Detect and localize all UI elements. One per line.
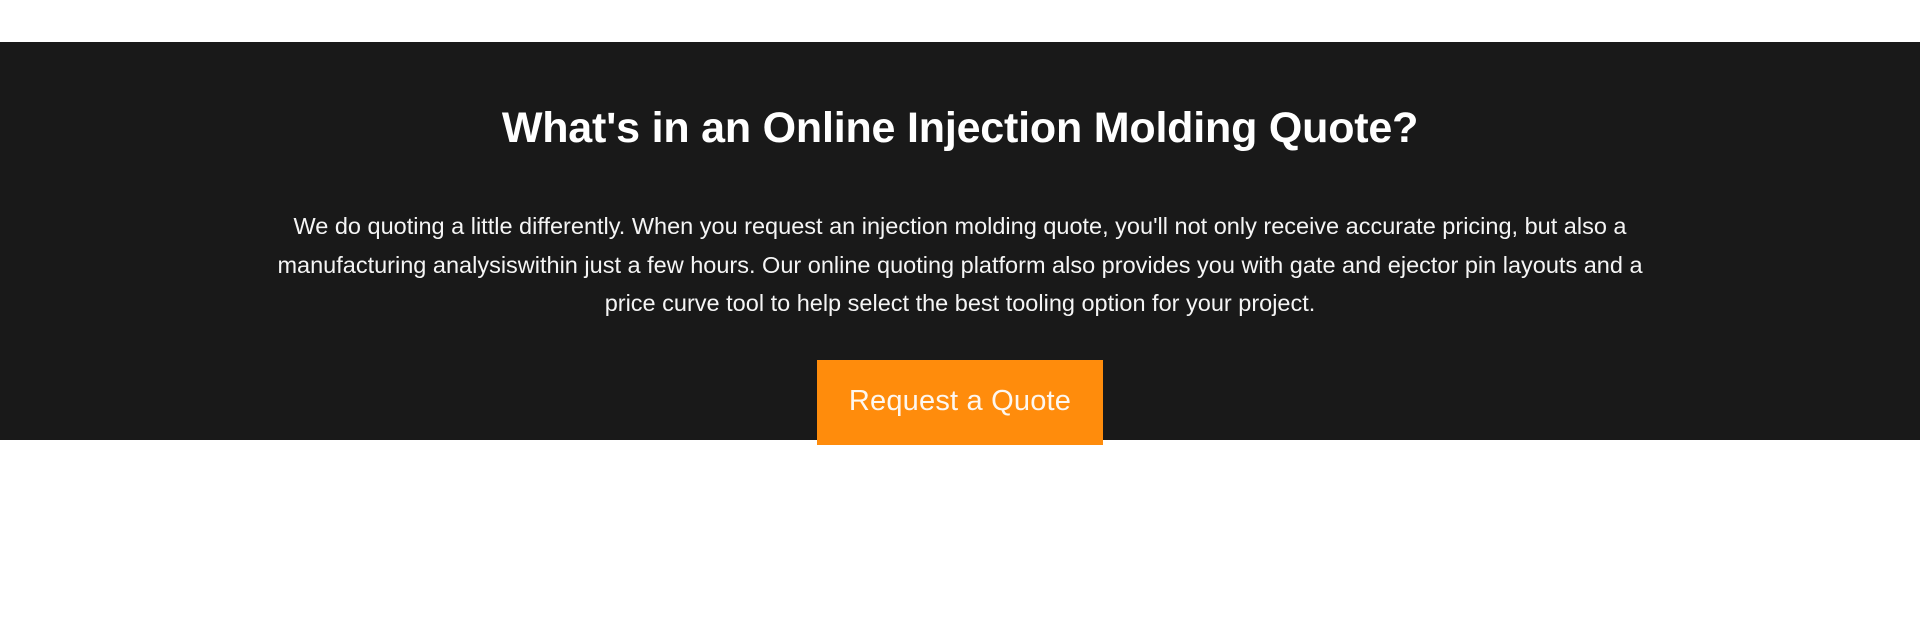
cta-description: We do quoting a little differently. When… [250, 207, 1670, 321]
cta-button-container: Request a Quote [0, 360, 1920, 445]
request-a-quote-button[interactable]: Request a Quote [817, 360, 1103, 445]
cta-section: What's in an Online Injection Molding Qu… [0, 42, 1920, 440]
page-root: What's in an Online Injection Molding Qu… [0, 0, 1920, 642]
page-title: What's in an Online Injection Molding Qu… [0, 104, 1920, 153]
